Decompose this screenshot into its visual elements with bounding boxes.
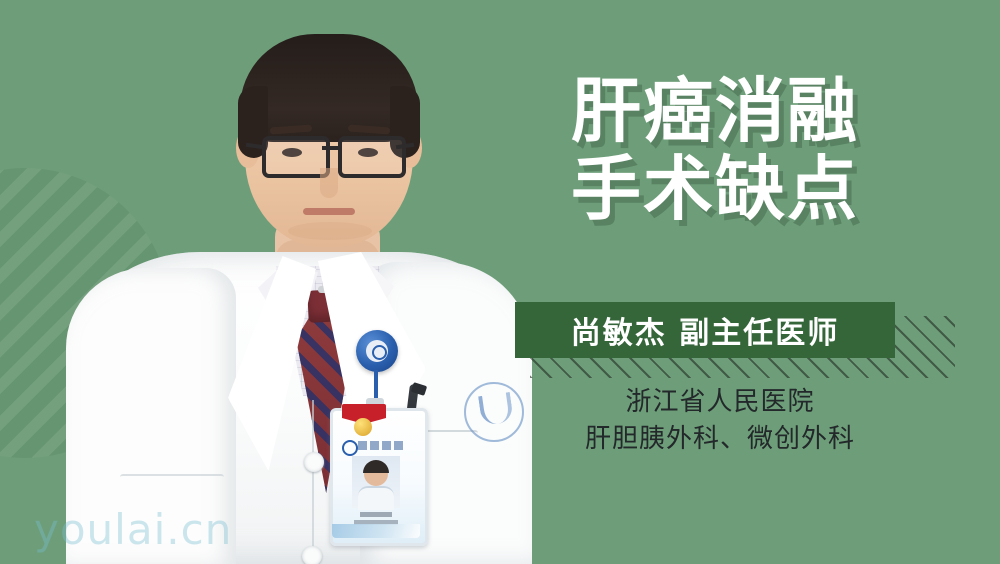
badge-hospital-logo-icon (342, 440, 358, 456)
coat-button-lower (302, 546, 322, 564)
coat-center-seam (312, 400, 314, 564)
glasses-lens-right (338, 136, 406, 178)
department-name: 肝胆胰外科、微创外科 (500, 421, 940, 458)
title-line-2: 手术缺点 (500, 150, 930, 228)
speaker-affiliation: 浙江省人民医院 肝胆胰外科、微创外科 (500, 384, 940, 458)
hospital-name: 浙江省人民医院 (500, 384, 940, 421)
badge-reel-logo-icon (372, 345, 387, 360)
title-line-1: 肝癌消融 (500, 72, 930, 150)
badge-wave-graphic (332, 524, 420, 538)
badge-photo-body (358, 486, 394, 510)
doctor-portrait (60, 0, 530, 564)
speaker-name-and-rank: 尚敏杰 副主任医师 (571, 308, 839, 352)
badge-name-line (360, 512, 392, 517)
glasses-bridge (322, 146, 338, 150)
badge-medal-icon (354, 418, 372, 436)
page-title: 肝癌消融 手术缺点 (500, 72, 930, 229)
coat-button-upper (304, 452, 324, 472)
poster-canvas: 肝癌消融 手术缺点 尚敏杰 副主任医师 浙江省人民医院 肝胆胰外科、微创外科 y… (0, 0, 1000, 564)
mouth (303, 208, 355, 215)
speaker-name-banner: 尚敏杰 副主任医师 (500, 302, 940, 376)
chin-shadow (288, 222, 372, 240)
name-band: 尚敏杰 副主任医师 (515, 302, 895, 358)
nose (320, 168, 338, 198)
watermark: youlai.cn (34, 505, 232, 554)
badge-hospital-name-line (358, 441, 406, 450)
